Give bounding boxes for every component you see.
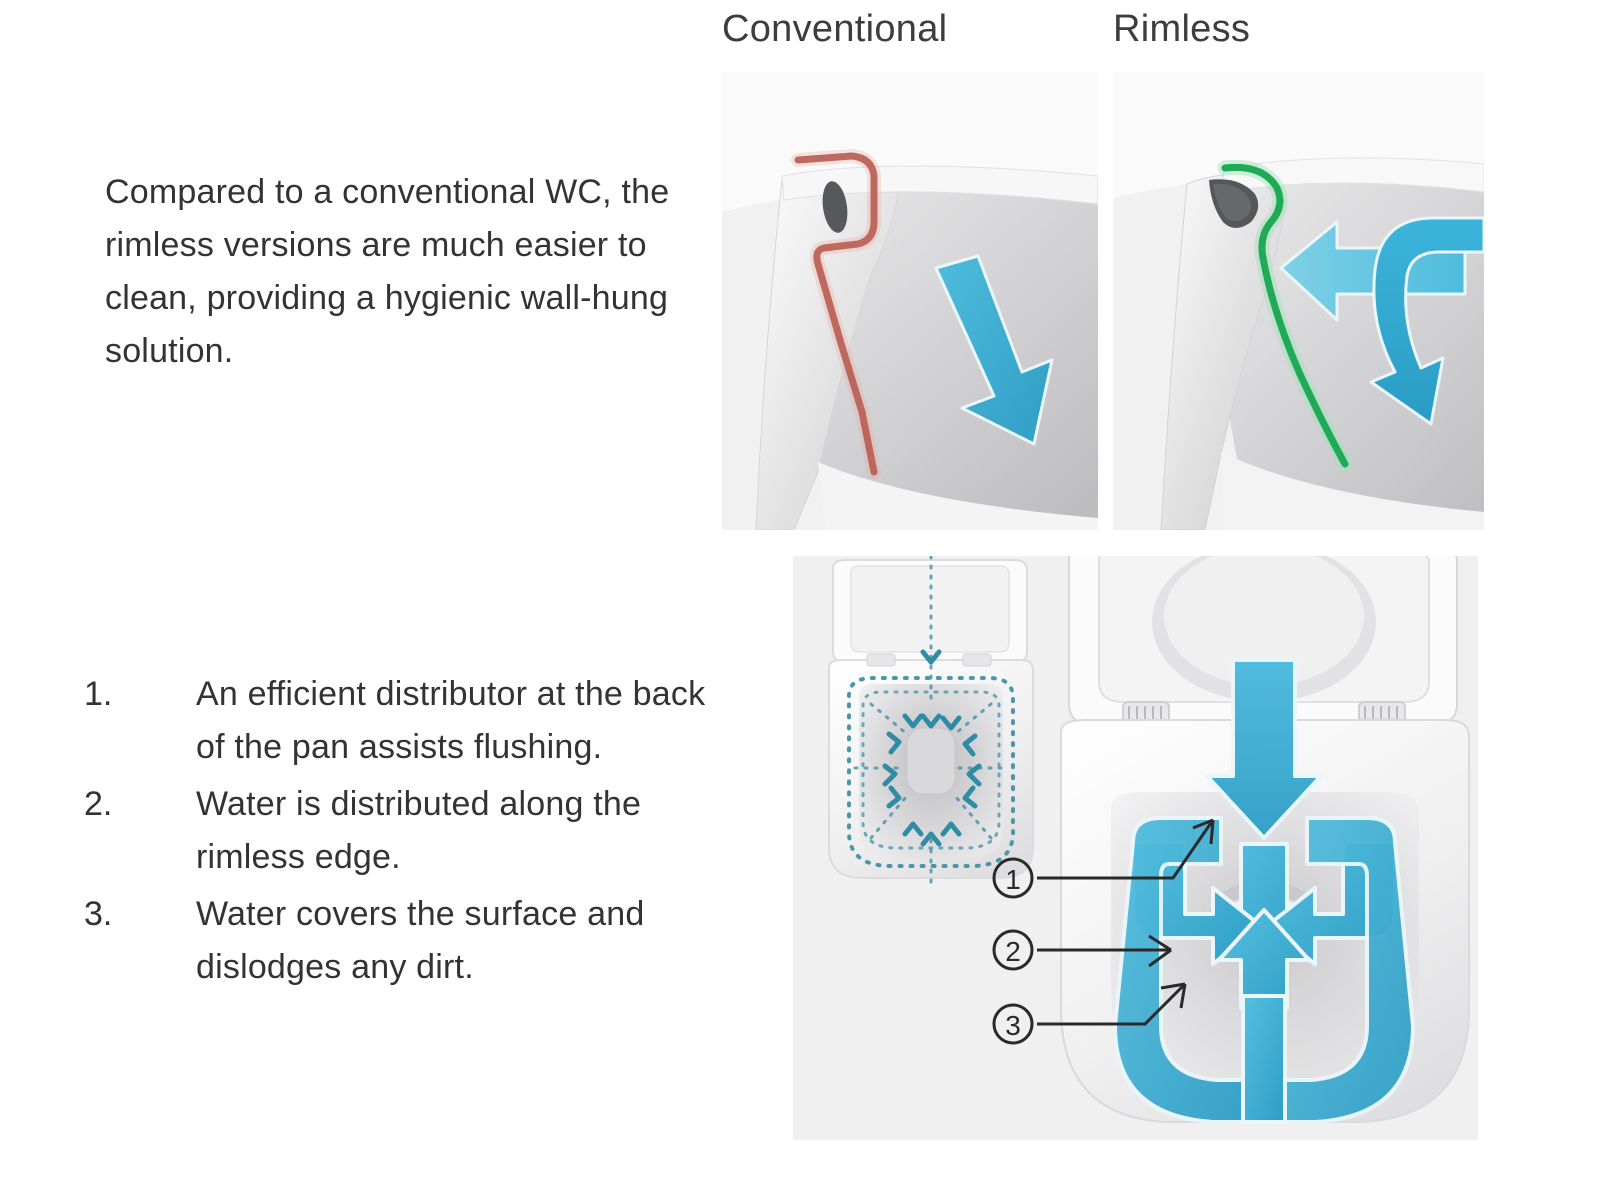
- step-text: An efficient distributor at the back of …: [196, 668, 724, 774]
- step-number: 1.: [84, 668, 196, 774]
- hinge-left: [867, 654, 895, 666]
- figure-flush-distribution: 1 2 3: [793, 556, 1478, 1140]
- pan-topview-flow: [1061, 556, 1469, 1122]
- rimless-illustration: [1113, 72, 1484, 530]
- column-heading-conventional: Conventional: [722, 8, 947, 51]
- figure-conventional-rim: [722, 72, 1098, 530]
- figure-rimless-rim: [1113, 72, 1484, 530]
- pan-topview-dotted: [829, 556, 1033, 888]
- list-item: 3. Water covers the surface and dislodge…: [84, 888, 724, 994]
- step-text: Water covers the surface and dislodges a…: [196, 888, 724, 994]
- column-heading-rimless: Rimless: [1113, 8, 1250, 51]
- list-item: 2. Water is distributed along the rimles…: [84, 778, 724, 884]
- callout-1-number: 1: [1005, 864, 1021, 895]
- flow-stem-bottom: [1243, 996, 1285, 1122]
- callout-3-number: 3: [1005, 1010, 1021, 1041]
- intro-paragraph: Compared to a conventional WC, the rimle…: [105, 166, 725, 378]
- step-number: 3.: [84, 888, 196, 994]
- step-number: 2.: [84, 778, 196, 884]
- hinge-right: [963, 654, 991, 666]
- list-item: 1. An efficient distributor at the back …: [84, 668, 724, 774]
- step-text: Water is distributed along the rimless e…: [196, 778, 724, 884]
- pan-outlet: [907, 728, 955, 794]
- flush-distribution-illustration: 1 2 3: [793, 556, 1478, 1140]
- conventional-illustration: [722, 72, 1098, 530]
- page-root: Compared to a conventional WC, the rimle…: [0, 0, 1600, 1200]
- numbered-steps-list: 1. An efficient distributor at the back …: [84, 668, 724, 998]
- callout-2-number: 2: [1005, 936, 1021, 967]
